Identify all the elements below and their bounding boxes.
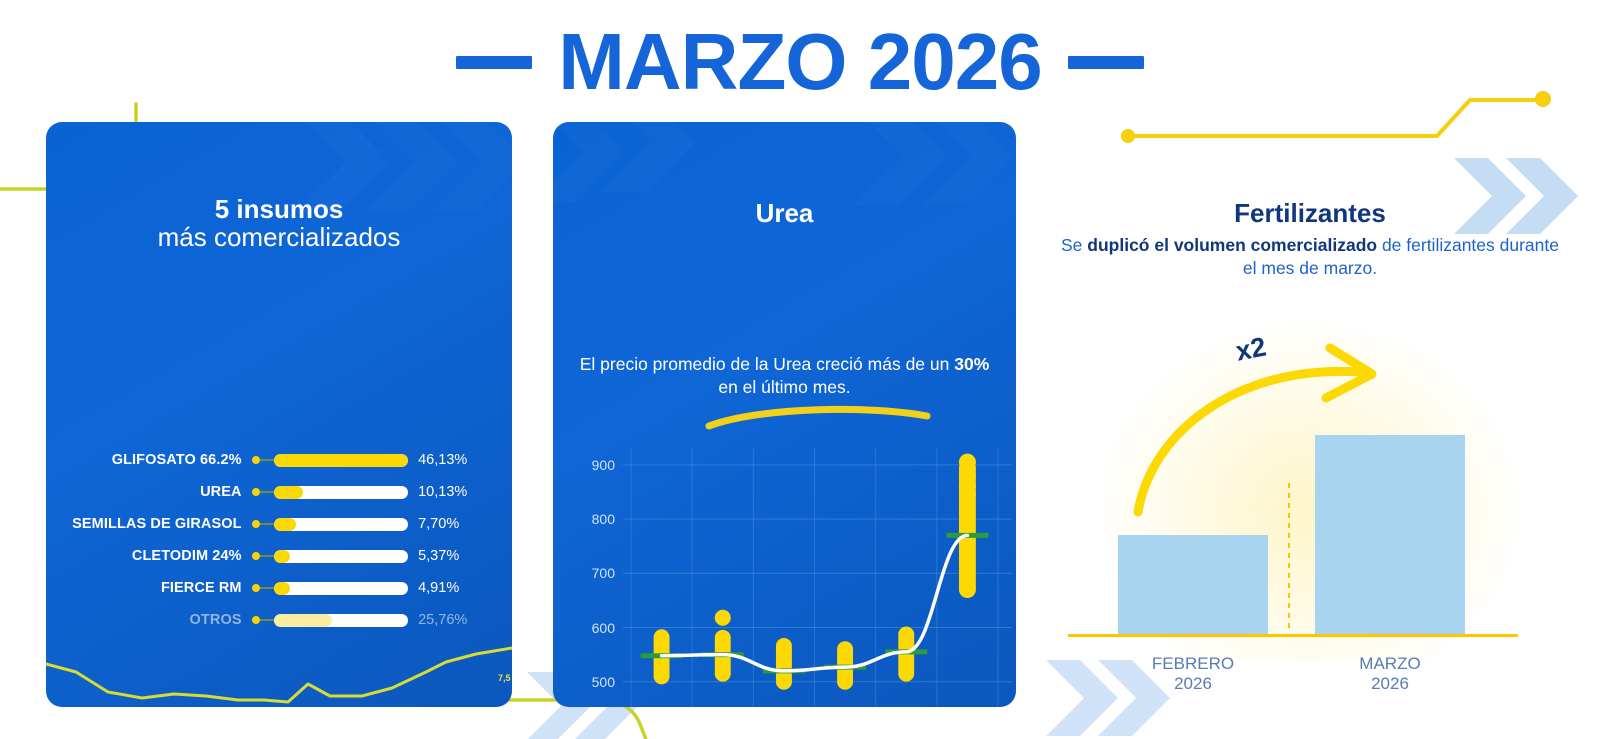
insumo-value: 10,13% xyxy=(408,484,512,500)
bar-track xyxy=(274,582,408,595)
insumo-value: 46,13% xyxy=(408,452,512,468)
insumo-row: FIERCE RM4,91% xyxy=(46,572,512,604)
bar-stem xyxy=(260,587,274,589)
bar-fill xyxy=(274,518,296,531)
fertilizantes-arrow xyxy=(1060,312,1560,707)
bar-dot-icon xyxy=(252,488,260,496)
insumo-bar xyxy=(252,582,408,595)
insumo-label: FIERCE RM xyxy=(46,580,252,596)
urea-scatter-chart xyxy=(553,440,1016,707)
y-axis-tick: 800 xyxy=(565,511,615,527)
insumo-value: 7,70% xyxy=(408,516,512,532)
fertilizantes-bar-chart: x2 FEBRERO 2026 MARZO 2026 xyxy=(1060,312,1560,707)
sparkline-label-1: 5,3 xyxy=(289,706,302,707)
bar-track xyxy=(274,486,408,499)
panel-urea-heading: Urea xyxy=(553,200,1016,227)
insumo-bar xyxy=(252,550,408,563)
insumo-bar xyxy=(252,518,408,531)
bar-dot-icon xyxy=(252,520,260,528)
bar-label-marzo: MARZO 2026 xyxy=(1300,654,1480,695)
bar-fill xyxy=(274,486,304,499)
title-dash-left xyxy=(456,56,532,69)
insumo-row: UREA10,13% xyxy=(46,476,512,508)
title-text: MARZO 2026 xyxy=(558,22,1041,102)
panel-insumos-title-regular: más comercializados xyxy=(46,223,512,253)
insumo-row: GLIFOSATO 66.2%46,13% xyxy=(46,444,512,476)
bar-label-febrero: FEBRERO 2026 xyxy=(1103,654,1283,695)
fert-subtitle-bold: duplicó el volumen comercializado xyxy=(1087,235,1377,255)
insumo-label: GLIFOSATO 66.2% xyxy=(46,452,252,468)
bar-dot-icon xyxy=(252,584,260,592)
bar-track xyxy=(274,550,408,563)
insumo-bar xyxy=(252,614,408,627)
panel-fertilizantes-subtitle: Se duplicó el volumen comercializado de … xyxy=(1060,234,1560,281)
bar-stem xyxy=(260,555,274,557)
insumos-sparkline xyxy=(46,646,512,707)
insumos-list: GLIFOSATO 66.2%46,13%UREA10,13%SEMILLAS … xyxy=(46,444,512,636)
bar-dot-icon xyxy=(252,552,260,560)
panel-insumos: 5 insumos más comercializados GLIFOSATO … xyxy=(46,122,512,707)
panel-fertilizantes: Fertilizantes Se duplicó el volumen come… xyxy=(1040,122,1580,707)
bar-label-febrero-line1: FEBRERO xyxy=(1103,654,1283,675)
insumo-value: 5,37% xyxy=(408,548,512,564)
insumo-label: SEMILLAS DE GIRASOL xyxy=(46,516,252,532)
bar-label-febrero-line2: 2026 xyxy=(1103,674,1283,695)
bar-marzo xyxy=(1315,435,1465,635)
multiplier-label: x2 xyxy=(1233,331,1268,367)
insumo-label: CLETODIM 24% xyxy=(46,548,252,564)
y-axis-tick: 900 xyxy=(565,457,615,473)
insumo-value: 4,91% xyxy=(408,580,512,596)
insumo-label: OTROS xyxy=(46,612,252,628)
urea-underline-swoosh xyxy=(703,404,933,430)
bar-chart-baseline xyxy=(1068,634,1518,637)
bar-stem xyxy=(260,459,274,461)
fert-subtitle-part1: Se xyxy=(1061,235,1087,255)
bar-febrero xyxy=(1118,535,1268,635)
urea-subtitle-part2: en el último mes. xyxy=(718,377,850,397)
bar-label-marzo-line2: 2026 xyxy=(1300,674,1480,695)
bar-track xyxy=(274,614,408,627)
insumo-bar xyxy=(252,454,408,467)
sparkline-label-2: 7,5 xyxy=(498,673,511,683)
insumo-label: UREA xyxy=(46,484,252,500)
urea-subtitle-bold: 30% xyxy=(954,354,989,374)
bar-dot-icon xyxy=(252,616,260,624)
panel-insumos-title-bold: 5 insumos xyxy=(46,196,512,223)
insumo-bar xyxy=(252,486,408,499)
bar-fill xyxy=(274,614,333,627)
panel-fertilizantes-title: Fertilizantes xyxy=(1040,198,1580,229)
bar-stem xyxy=(260,491,274,493)
panel-insumos-heading: 5 insumos más comercializados xyxy=(46,196,512,253)
insumo-row: OTROS25,76% xyxy=(46,604,512,636)
title-dash-right xyxy=(1068,56,1144,69)
bar-track xyxy=(274,454,408,467)
bar-stem xyxy=(260,523,274,525)
bar-track xyxy=(274,518,408,531)
panel-urea: Urea El precio promedio de la Urea creci… xyxy=(553,122,1016,707)
insumo-row: CLETODIM 24%5,37% xyxy=(46,540,512,572)
panel-urea-subtitle: El precio promedio de la Urea creció más… xyxy=(573,353,996,399)
bar-fill xyxy=(274,454,408,467)
bar-fill xyxy=(274,582,290,595)
insumo-row: SEMILLAS DE GIRASOL7,70% xyxy=(46,508,512,540)
bar-label-marzo-line1: MARZO xyxy=(1300,654,1480,675)
insumo-value: 25,76% xyxy=(408,612,512,628)
y-axis-tick: 500 xyxy=(565,674,615,690)
bar-chart-divider xyxy=(1288,483,1290,633)
bar-stem xyxy=(260,619,274,621)
panel-chevron-watermark xyxy=(553,122,1016,262)
panel-urea-title: Urea xyxy=(553,200,1016,227)
urea-subtitle-part1: El precio promedio de la Urea creció más… xyxy=(580,354,955,374)
bar-dot-icon xyxy=(252,456,260,464)
page-title: MARZO 2026 xyxy=(0,14,1600,110)
bar-fill xyxy=(274,550,290,563)
y-axis-tick: 600 xyxy=(565,620,615,636)
y-axis-tick: 700 xyxy=(565,565,615,581)
